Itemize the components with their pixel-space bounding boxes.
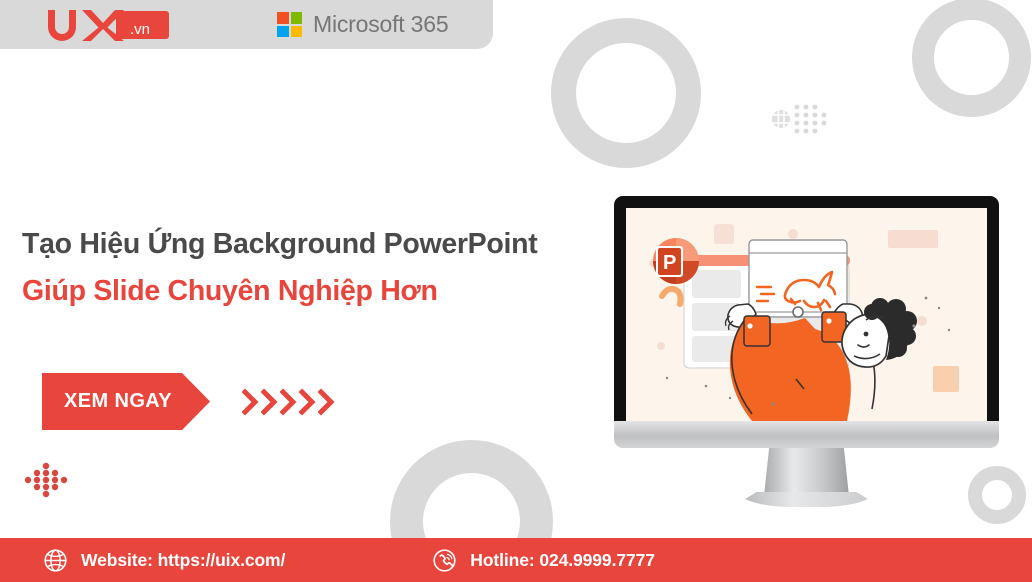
chevron-right-icon: [261, 388, 279, 416]
headline-line-1: Tạo Hiệu Ứng Background PowerPoint: [22, 221, 602, 268]
svg-text:P: P: [663, 252, 676, 274]
footer-hotline[interactable]: Hotline: 024.9999.7777: [432, 548, 655, 573]
footer-bar: Website: https://uix.com/ Hotline: 024.9…: [0, 538, 1032, 582]
cta-row: XEM NGAY: [42, 373, 336, 430]
footer-website-text: Website: https://uix.com/: [81, 550, 285, 571]
svg-text:.vn: .vn: [130, 21, 150, 38]
chevron-right-icon: [318, 388, 336, 416]
cta-button-label: XEM NGAY: [64, 390, 172, 413]
monitor-stand-neck: [764, 448, 849, 496]
headline-block: Tạo Hiệu Ứng Background PowerPoint Giúp …: [22, 221, 602, 315]
footer-website[interactable]: Website: https://uix.com/: [43, 548, 285, 573]
footer-hotline-text: Hotline: 024.9999.7777: [470, 550, 655, 571]
decorative-ring-top-left: [551, 18, 701, 168]
microsoft-365-label: Microsoft 365: [313, 11, 448, 38]
headline-line-2: Giúp Slide Chuyên Nghiệp Hơn: [22, 268, 602, 315]
phone-ring-icon: [432, 548, 457, 573]
decorative-ring-top-right: [912, 0, 1031, 117]
globe-icon: [43, 548, 68, 573]
promo-banner: .vn Microsoft 365 Tạo Hiệu Ứng Backgroun…: [0, 0, 1032, 582]
monitor-frame: P: [614, 196, 999, 421]
monitor-screen: P: [626, 208, 987, 421]
uix-logo[interactable]: .vn: [44, 8, 176, 42]
monitor-chin: [614, 421, 999, 448]
uix-logo-mark: .vn: [44, 8, 176, 42]
chevron-arrows-group: [242, 388, 336, 416]
microsoft-squares-icon: [277, 12, 302, 37]
microsoft-365-badge[interactable]: Microsoft 365: [277, 11, 448, 38]
globe-dots-icon: [772, 100, 836, 138]
monitor-stand-base: [739, 492, 874, 507]
chevron-right-icon: [280, 388, 298, 416]
header-bar: .vn Microsoft 365: [0, 0, 493, 49]
chevron-right-icon: [242, 388, 260, 416]
screen-artwork: P: [626, 208, 987, 421]
chevron-right-icon: [299, 388, 317, 416]
imac-monitor-illustration: P: [614, 196, 999, 486]
decorative-dot-diamond: [22, 462, 70, 504]
xem-ngay-button[interactable]: XEM NGAY: [42, 373, 210, 430]
